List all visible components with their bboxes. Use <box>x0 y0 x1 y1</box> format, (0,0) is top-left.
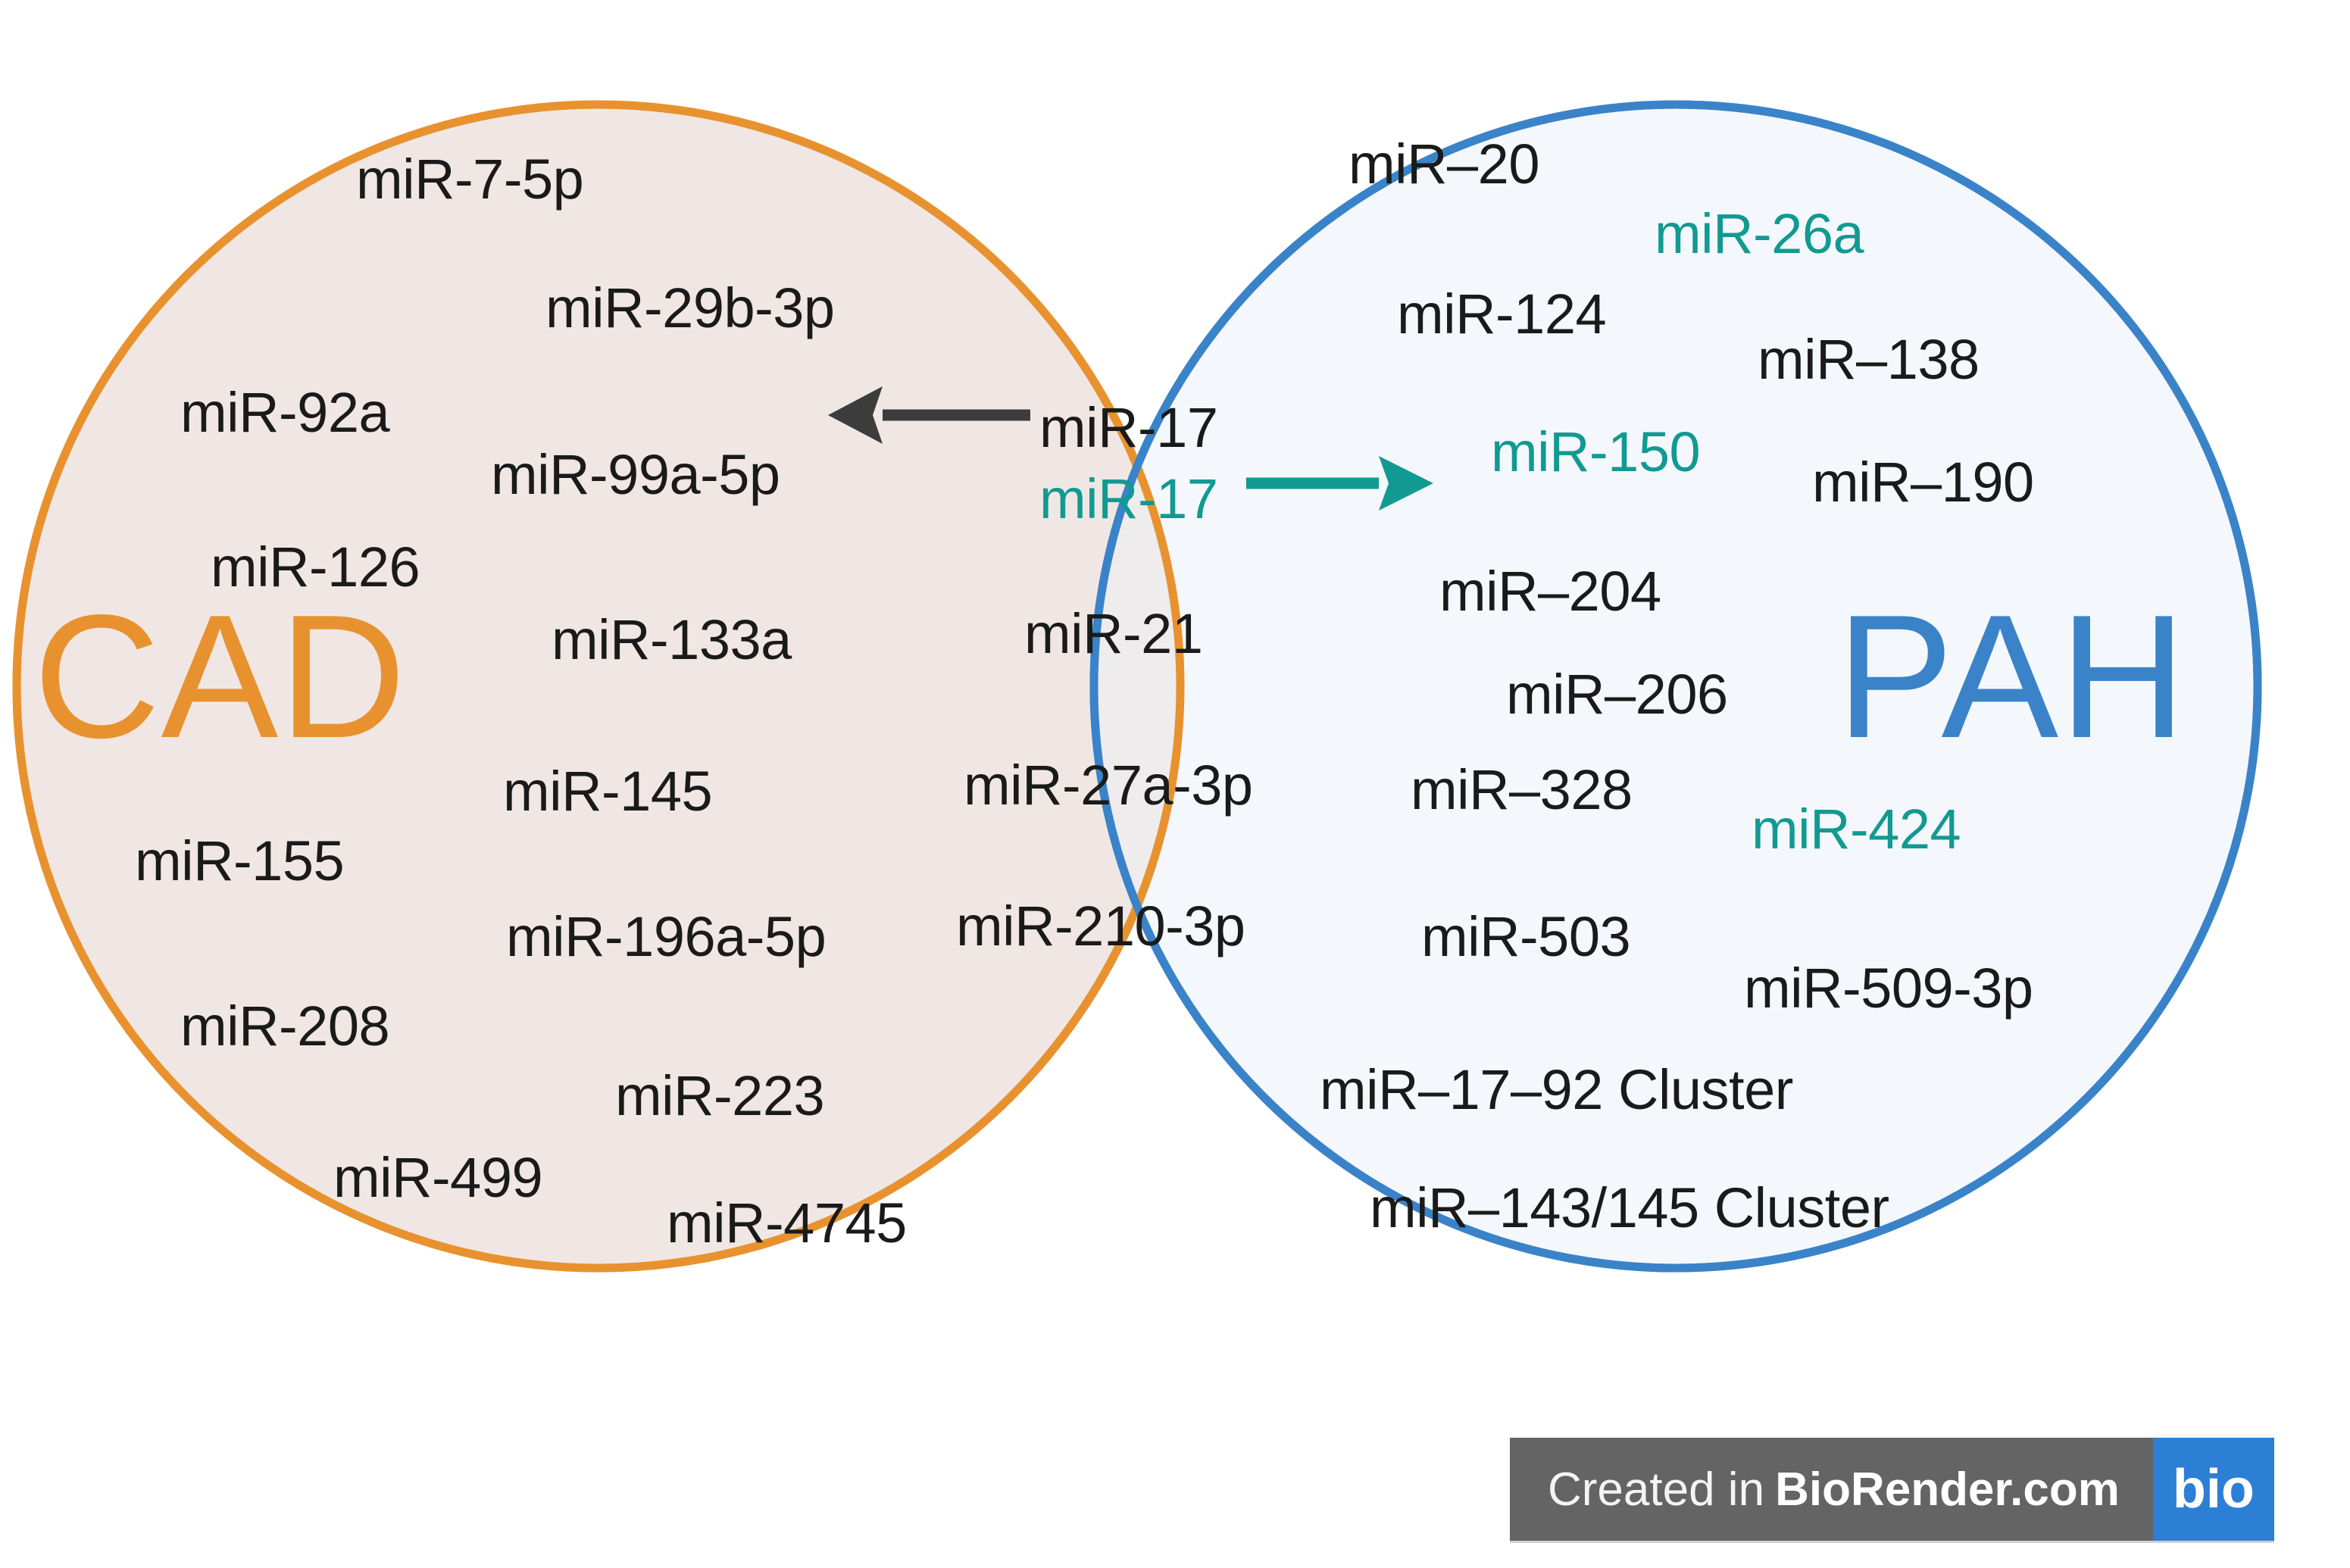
mirna-label: miR-7-5p <box>356 151 583 208</box>
mirna-label: miR-124 <box>1397 286 1606 342</box>
mirna-label: miR-145 <box>503 764 712 820</box>
mirna-label: miR–17–92 Cluster <box>1320 1062 1793 1118</box>
biorender-watermark: Created in BioRender.com bio <box>1510 1438 2274 1541</box>
mirna-label: miR-509-3p <box>1744 960 2033 1017</box>
mirna-label: miR–328 <box>1411 762 1633 818</box>
mirna-label: miR-17 <box>1039 400 1217 456</box>
venn-diagram-canvas: CAD PAH miR-7-5p miR-29b-3p miR-92a miR-… <box>0 0 2350 1568</box>
mirna-label: miR–206 <box>1506 667 1728 723</box>
mirna-label: miR-27a-3p <box>964 757 1253 814</box>
biorender-brand: BioRender.com <box>1775 1463 2120 1516</box>
mirna-label: miR-223 <box>615 1068 824 1124</box>
mirna-label: miR-21 <box>1024 606 1202 662</box>
mirna-label: miR-133a <box>552 612 792 668</box>
biorender-prefix: Created in <box>1548 1463 1764 1516</box>
biorender-text: Created in BioRender.com <box>1510 1438 2153 1541</box>
biorender-logo-icon: bio <box>2153 1438 2274 1541</box>
pah-set-title: PAH <box>1836 589 2187 765</box>
mirna-label: miR-126 <box>211 539 420 595</box>
mirna-label: miR-155 <box>135 833 344 889</box>
mirna-label-highlight: miR-150 <box>1491 424 1700 480</box>
mirna-label: miR-29b-3p <box>545 280 835 336</box>
mirna-label-highlight: miR-17 <box>1039 471 1217 527</box>
mirna-label: miR-196a-5p <box>506 909 826 965</box>
mirna-label: miR-503 <box>1421 909 1630 965</box>
mirna-label: miR-4745 <box>667 1195 907 1251</box>
mirna-label: miR-499 <box>333 1150 542 1206</box>
mirna-label: miR-99a-5p <box>491 447 780 503</box>
mirna-label: miR–143/145 Cluster <box>1370 1180 1889 1236</box>
mirna-label: miR–138 <box>1758 332 1980 388</box>
mirna-label: miR–204 <box>1439 564 1661 620</box>
mirna-label: miR-92a <box>180 385 389 441</box>
mirna-label: miR–190 <box>1812 454 2034 511</box>
mirna-label-highlight: miR-26a <box>1655 206 1864 262</box>
mirna-label: miR–20 <box>1348 136 1539 192</box>
mirna-label: miR-210-3p <box>956 898 1245 954</box>
mirna-label-highlight: miR-424 <box>1752 801 1961 857</box>
mirna-label: miR-208 <box>180 998 389 1054</box>
cad-set-title: CAD <box>33 589 407 765</box>
